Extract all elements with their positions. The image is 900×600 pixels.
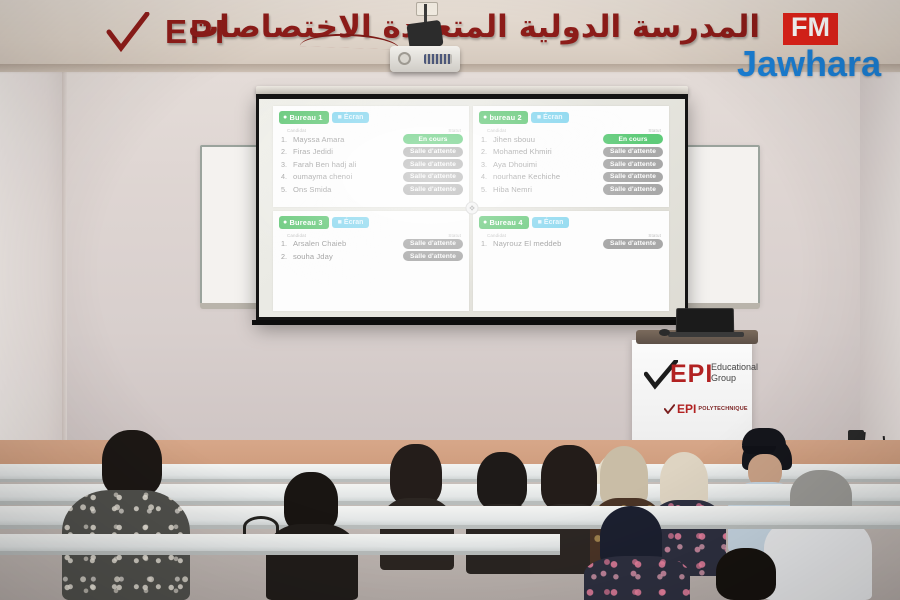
candidate-list: 1.Mayssa AmaraEn cours2.Firas JedidiSall… (279, 134, 463, 195)
poly-label: POLYTECHNIQUE (698, 406, 747, 412)
candidate-name: Mayssa Amara (293, 135, 344, 144)
panel-header: ●Bureau 4■Écran (479, 216, 663, 229)
bureau-panel[interactable]: ●Bureau 1■ÉcranCandidatStatut1.Mayssa Am… (273, 106, 469, 207)
column-header-candidate: Candidat (287, 128, 306, 133)
status-badge: Salle d'attente (603, 172, 663, 182)
location-pin-icon: ● (483, 219, 487, 226)
monitor-icon: ■ (338, 114, 342, 121)
row-index: 4. (281, 172, 289, 181)
row-index: 2. (481, 147, 489, 156)
bureau-label: Bureau 1 (289, 113, 322, 122)
status-badge: Salle d'attente (403, 172, 463, 182)
column-header-status: Statut (648, 128, 661, 133)
candidate-list: 1.Arsalen ChaiebSalle d'attente2.souha J… (279, 239, 463, 262)
column-header-candidate: Candidat (487, 128, 506, 133)
status-badge: Salle d'attente (403, 184, 463, 194)
candidate-row[interactable]: 1.Jihen sbouuEn cours (479, 134, 663, 144)
row-index: 1. (281, 135, 289, 144)
status-badge: Salle d'attente (403, 159, 463, 169)
monitor-icon: ■ (537, 114, 541, 121)
status-badge: En cours (603, 134, 663, 144)
bureau-badge[interactable]: ●bureau 2 (479, 111, 528, 124)
candidate-row[interactable]: 4.nourhane KechicheSalle d'attente (479, 172, 663, 182)
row-index: 1. (281, 239, 289, 248)
right-wall-panel (860, 70, 900, 440)
banner-epi-text: EPI (670, 362, 713, 387)
poly-epi-text: EPI (677, 402, 696, 416)
desk-edge-row4 (0, 551, 560, 555)
candidate-name: Hiba Nemri (493, 185, 532, 194)
bureau-panel[interactable]: ●Bureau 3■ÉcranCandidatStatut1.Arsalen C… (273, 211, 469, 312)
row-index: 3. (481, 160, 489, 169)
candidate-row[interactable]: 2.Firas JedidiSalle d'attente (279, 147, 463, 157)
screen-bottom-bar (252, 320, 692, 325)
sign-arabic-text: المدرسة الدولية المتعددة الاختصاصات (188, 9, 760, 45)
left-wall-panel (0, 70, 66, 470)
screen-label: Écran (344, 219, 363, 226)
watermark-jawhara: Jawhara (737, 46, 881, 82)
projector-lens-icon (398, 52, 411, 65)
status-badge: En cours (403, 134, 463, 144)
epi-roll-up-banner: EPI Educational Group EPI POLYTECHNIQUE (632, 340, 752, 450)
bureau-badge[interactable]: ●Bureau 1 (279, 111, 329, 124)
candidate-row[interactable]: 1.Arsalen ChaiebSalle d'attente (279, 239, 463, 249)
column-header-status: Statut (448, 128, 461, 133)
epi-poly-check-icon (664, 404, 675, 414)
column-header-candidate: Candidat (287, 233, 306, 238)
bureau-panel[interactable]: ●Bureau 4■ÉcranCandidatStatut1.Nayrouz E… (473, 211, 669, 312)
row-index: 4. (481, 172, 489, 181)
projection-screen: ●Bureau 1■ÉcranCandidatStatut1.Mayssa Am… (256, 94, 688, 323)
bureau-badge[interactable]: ●Bureau 3 (279, 216, 329, 229)
classroom-photo: EPI المدرسة الدولية المتعددة الاختصاصات … (0, 0, 900, 600)
laptop-base (668, 332, 744, 337)
candidate-list: 1.Nayrouz El meddebSalle d'attente (479, 239, 663, 249)
row-index: 2. (281, 147, 289, 156)
banner-line-1: Educational (711, 362, 758, 373)
candidate-row[interactable]: 5.Hiba NemriSalle d'attente (479, 184, 663, 194)
red-check-icon (106, 12, 150, 54)
epi-polytechnique-lockup: EPI POLYTECHNIQUE (664, 402, 748, 416)
candidate-row[interactable]: 3.Farah Ben hadj aliSalle d'attente (279, 159, 463, 169)
status-badge: Salle d'attente (603, 159, 663, 169)
row-index: 2. (281, 252, 289, 261)
screen-badge[interactable]: ■Écran (332, 217, 370, 228)
monitor-icon: ■ (538, 219, 542, 226)
candidate-name: souha Jday (293, 252, 333, 261)
monitor-icon: ■ (338, 219, 342, 226)
row-index: 5. (481, 185, 489, 194)
row-index: 5. (281, 185, 289, 194)
watermark-fm: FM (783, 13, 838, 45)
status-badge: Salle d'attente (403, 251, 463, 261)
screen-label: Écran (344, 114, 363, 121)
panel-header: ●bureau 2■Écran (479, 111, 663, 124)
candidate-row[interactable]: 3.Aya DhouimiSalle d'attente (479, 159, 663, 169)
banner-subtitle: Educational Group (711, 362, 758, 385)
screen-badge[interactable]: ■Écran (532, 217, 570, 228)
location-pin-icon: ● (283, 114, 287, 121)
candidate-name: Aya Dhouimi (493, 160, 537, 169)
bureau-label: bureau 2 (489, 113, 521, 122)
screen-badge[interactable]: ■Écran (332, 112, 370, 123)
screen-label: Écran (543, 114, 562, 121)
row-index: 3. (281, 160, 289, 169)
panel-header: ●Bureau 1■Écran (279, 111, 463, 124)
desk-top-row4 (0, 534, 560, 552)
status-badge: Salle d'attente (603, 147, 663, 157)
bureau-badge[interactable]: ●Bureau 4 (479, 216, 529, 229)
location-pin-icon: ● (283, 219, 287, 226)
candidate-name: Mohamed Khmiri (493, 147, 552, 156)
candidate-name: Jihen sbouu (493, 135, 535, 144)
panel-header: ●Bureau 3■Écran (279, 216, 463, 229)
computer-mouse[interactable] (659, 329, 670, 336)
status-badge: Salle d'attente (603, 184, 663, 194)
candidate-name: Arsalen Chaieb (293, 239, 346, 248)
grid-center-handle[interactable]: ✥ (466, 202, 479, 215)
screen-badge[interactable]: ■Écran (531, 112, 569, 123)
status-badge: Salle d'attente (603, 239, 663, 249)
candidate-row[interactable]: 2.souha JdaySalle d'attente (279, 251, 463, 261)
banner-line-2: Group (711, 373, 758, 384)
bureau-label: Bureau 4 (489, 218, 522, 227)
column-header-candidate: Candidat (487, 233, 506, 238)
presenter-laptop[interactable] (676, 308, 734, 334)
candidate-row[interactable]: 5.Ons SmidaSalle d'attente (279, 184, 463, 194)
screen-label: Écran (544, 219, 563, 226)
left-wall-edge (62, 70, 67, 470)
ceiling-socket (416, 2, 438, 16)
column-header-status: Statut (648, 233, 661, 238)
candidate-list: 1.Jihen sbouuEn cours2.Mohamed KhmiriSal… (479, 134, 663, 195)
candidate-name: Farah Ben hadj ali (293, 160, 356, 169)
bureau-panel[interactable]: ●bureau 2■ÉcranCandidatStatut1.Jihen sbo… (473, 106, 669, 207)
candidate-name: oumayma chenoi (293, 172, 352, 181)
status-badge: Salle d'attente (403, 147, 463, 157)
row-index: 1. (481, 135, 489, 144)
candidate-row[interactable]: 1.Mayssa AmaraEn cours (279, 134, 463, 144)
candidate-name: Firas Jedidi (293, 147, 333, 156)
row-index: 1. (481, 239, 489, 248)
candidate-name: Nayrouz El meddeb (493, 239, 561, 248)
candidate-row[interactable]: 4.oumayma chenoiSalle d'attente (279, 172, 463, 182)
column-header-status: Statut (448, 233, 461, 238)
candidate-name: nourhane Kechiche (493, 172, 560, 181)
candidate-name: Ons Smida (293, 185, 331, 194)
candidate-row[interactable]: 2.Mohamed KhmiriSalle d'attente (479, 147, 663, 157)
status-badge: Salle d'attente (403, 239, 463, 249)
location-pin-icon: ● (483, 114, 487, 121)
projector-vent (424, 54, 452, 64)
bureau-label: Bureau 3 (289, 218, 322, 227)
candidate-row[interactable]: 1.Nayrouz El meddebSalle d'attente (479, 239, 663, 249)
